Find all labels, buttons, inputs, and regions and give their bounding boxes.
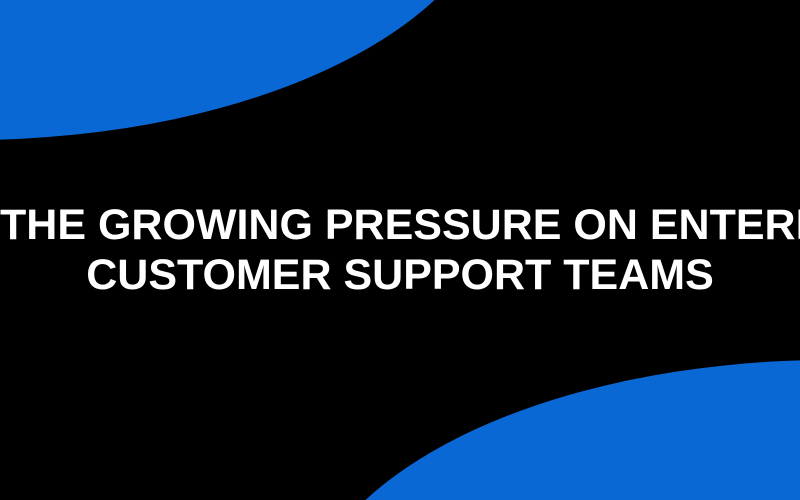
page-title-line-1: THE GROWING PRESSURE ON ENTERPRISE	[0, 200, 800, 250]
title-slide: THE GROWING PRESSURE ON ENTERPRISE CUSTO…	[0, 0, 800, 500]
page-title-line-2: CUSTOMER SUPPORT TEAMS	[0, 250, 800, 300]
page-title: THE GROWING PRESSURE ON ENTERPRISE CUSTO…	[0, 0, 800, 500]
